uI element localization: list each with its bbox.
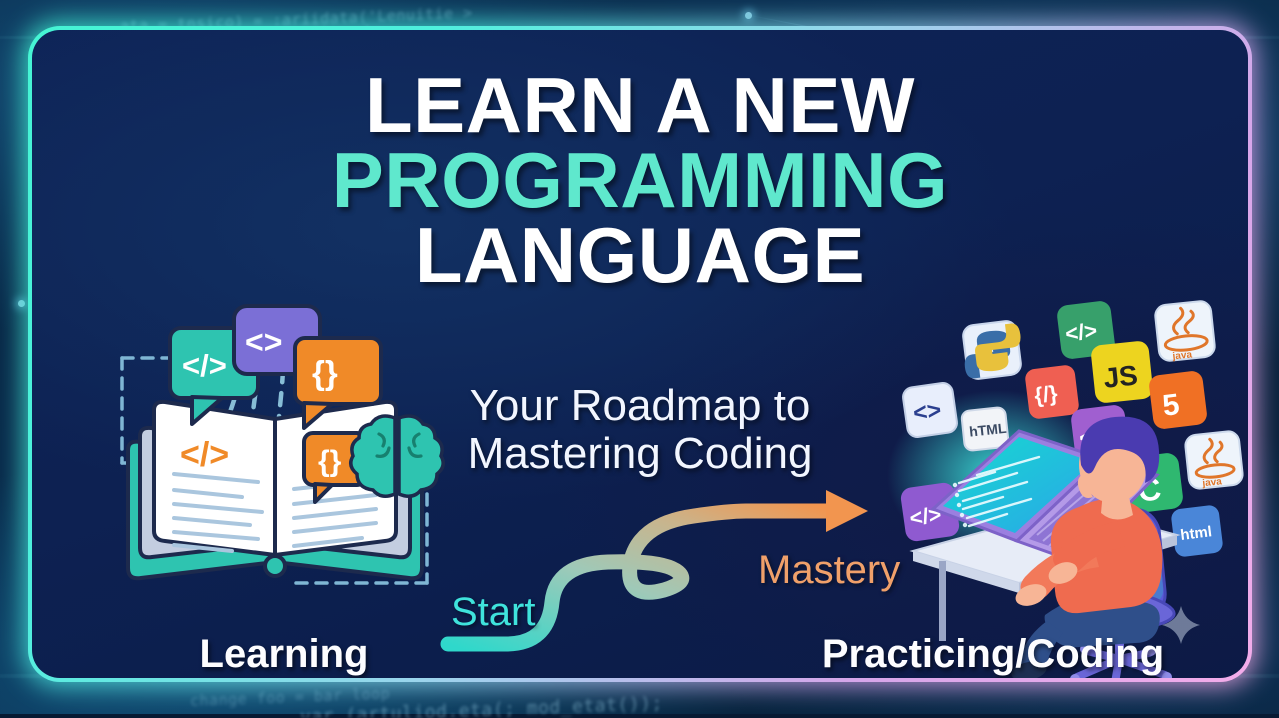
title-line-1: LEARN A NEW: [32, 68, 1248, 143]
badge-java-white-2: java: [1184, 430, 1243, 489]
badge-label: java: [1201, 476, 1223, 489]
badge-html5-orange: 5: [1148, 370, 1208, 430]
badge-javascript: JS: [1090, 340, 1154, 404]
roadmap-mastery-label: Mastery: [758, 548, 900, 593]
badge-label: <>: [911, 397, 943, 428]
badge-python: [960, 320, 1025, 380]
label-learning: Learning: [154, 632, 414, 677]
badge-label: java: [1171, 349, 1193, 362]
learning-illustration: </> {} </> <>: [82, 298, 472, 628]
badge-label: </>: [1064, 318, 1099, 347]
roadmap-start-label: Start: [451, 590, 535, 635]
page-title: LEARN A NEW PROGRAMMING LANGUAGE: [32, 68, 1248, 293]
code-bubble-orange-glyph: {}: [312, 354, 338, 391]
badge-html-white: hTML: [961, 407, 1009, 451]
desk-leg: [939, 561, 946, 641]
card-neon-border: LEARN A NEW PROGRAMMING LANGUAGE Your Ro…: [28, 26, 1252, 682]
label-practicing: Practicing/Coding: [778, 632, 1208, 677]
badge-html-blue: html: [1170, 504, 1223, 557]
badge-java-white: java: [1154, 300, 1216, 362]
code-bubble-teal-glyph: </>: [182, 348, 227, 383]
page-bubble-glyph: {}: [318, 445, 342, 478]
code-bubble-purple-glyph: <>: [245, 324, 282, 360]
poster-card: LEARN A NEW PROGRAMMING LANGUAGE Your Ro…: [32, 30, 1248, 678]
title-line-3: LANGUAGE: [32, 218, 1248, 293]
badge-label: JS: [1102, 359, 1139, 393]
title-line-2: PROGRAMMING: [32, 143, 1248, 218]
badge-label: {/}: [1033, 380, 1060, 408]
badge-braces-red: {/}: [1024, 364, 1080, 420]
roadmap-arrowhead: [826, 490, 868, 532]
sparkle-icon: [1162, 606, 1200, 644]
book-clasp: [265, 556, 285, 576]
badge-code-lightblue: <>: [902, 382, 958, 438]
book-code-glyph: </>: [180, 436, 229, 474]
